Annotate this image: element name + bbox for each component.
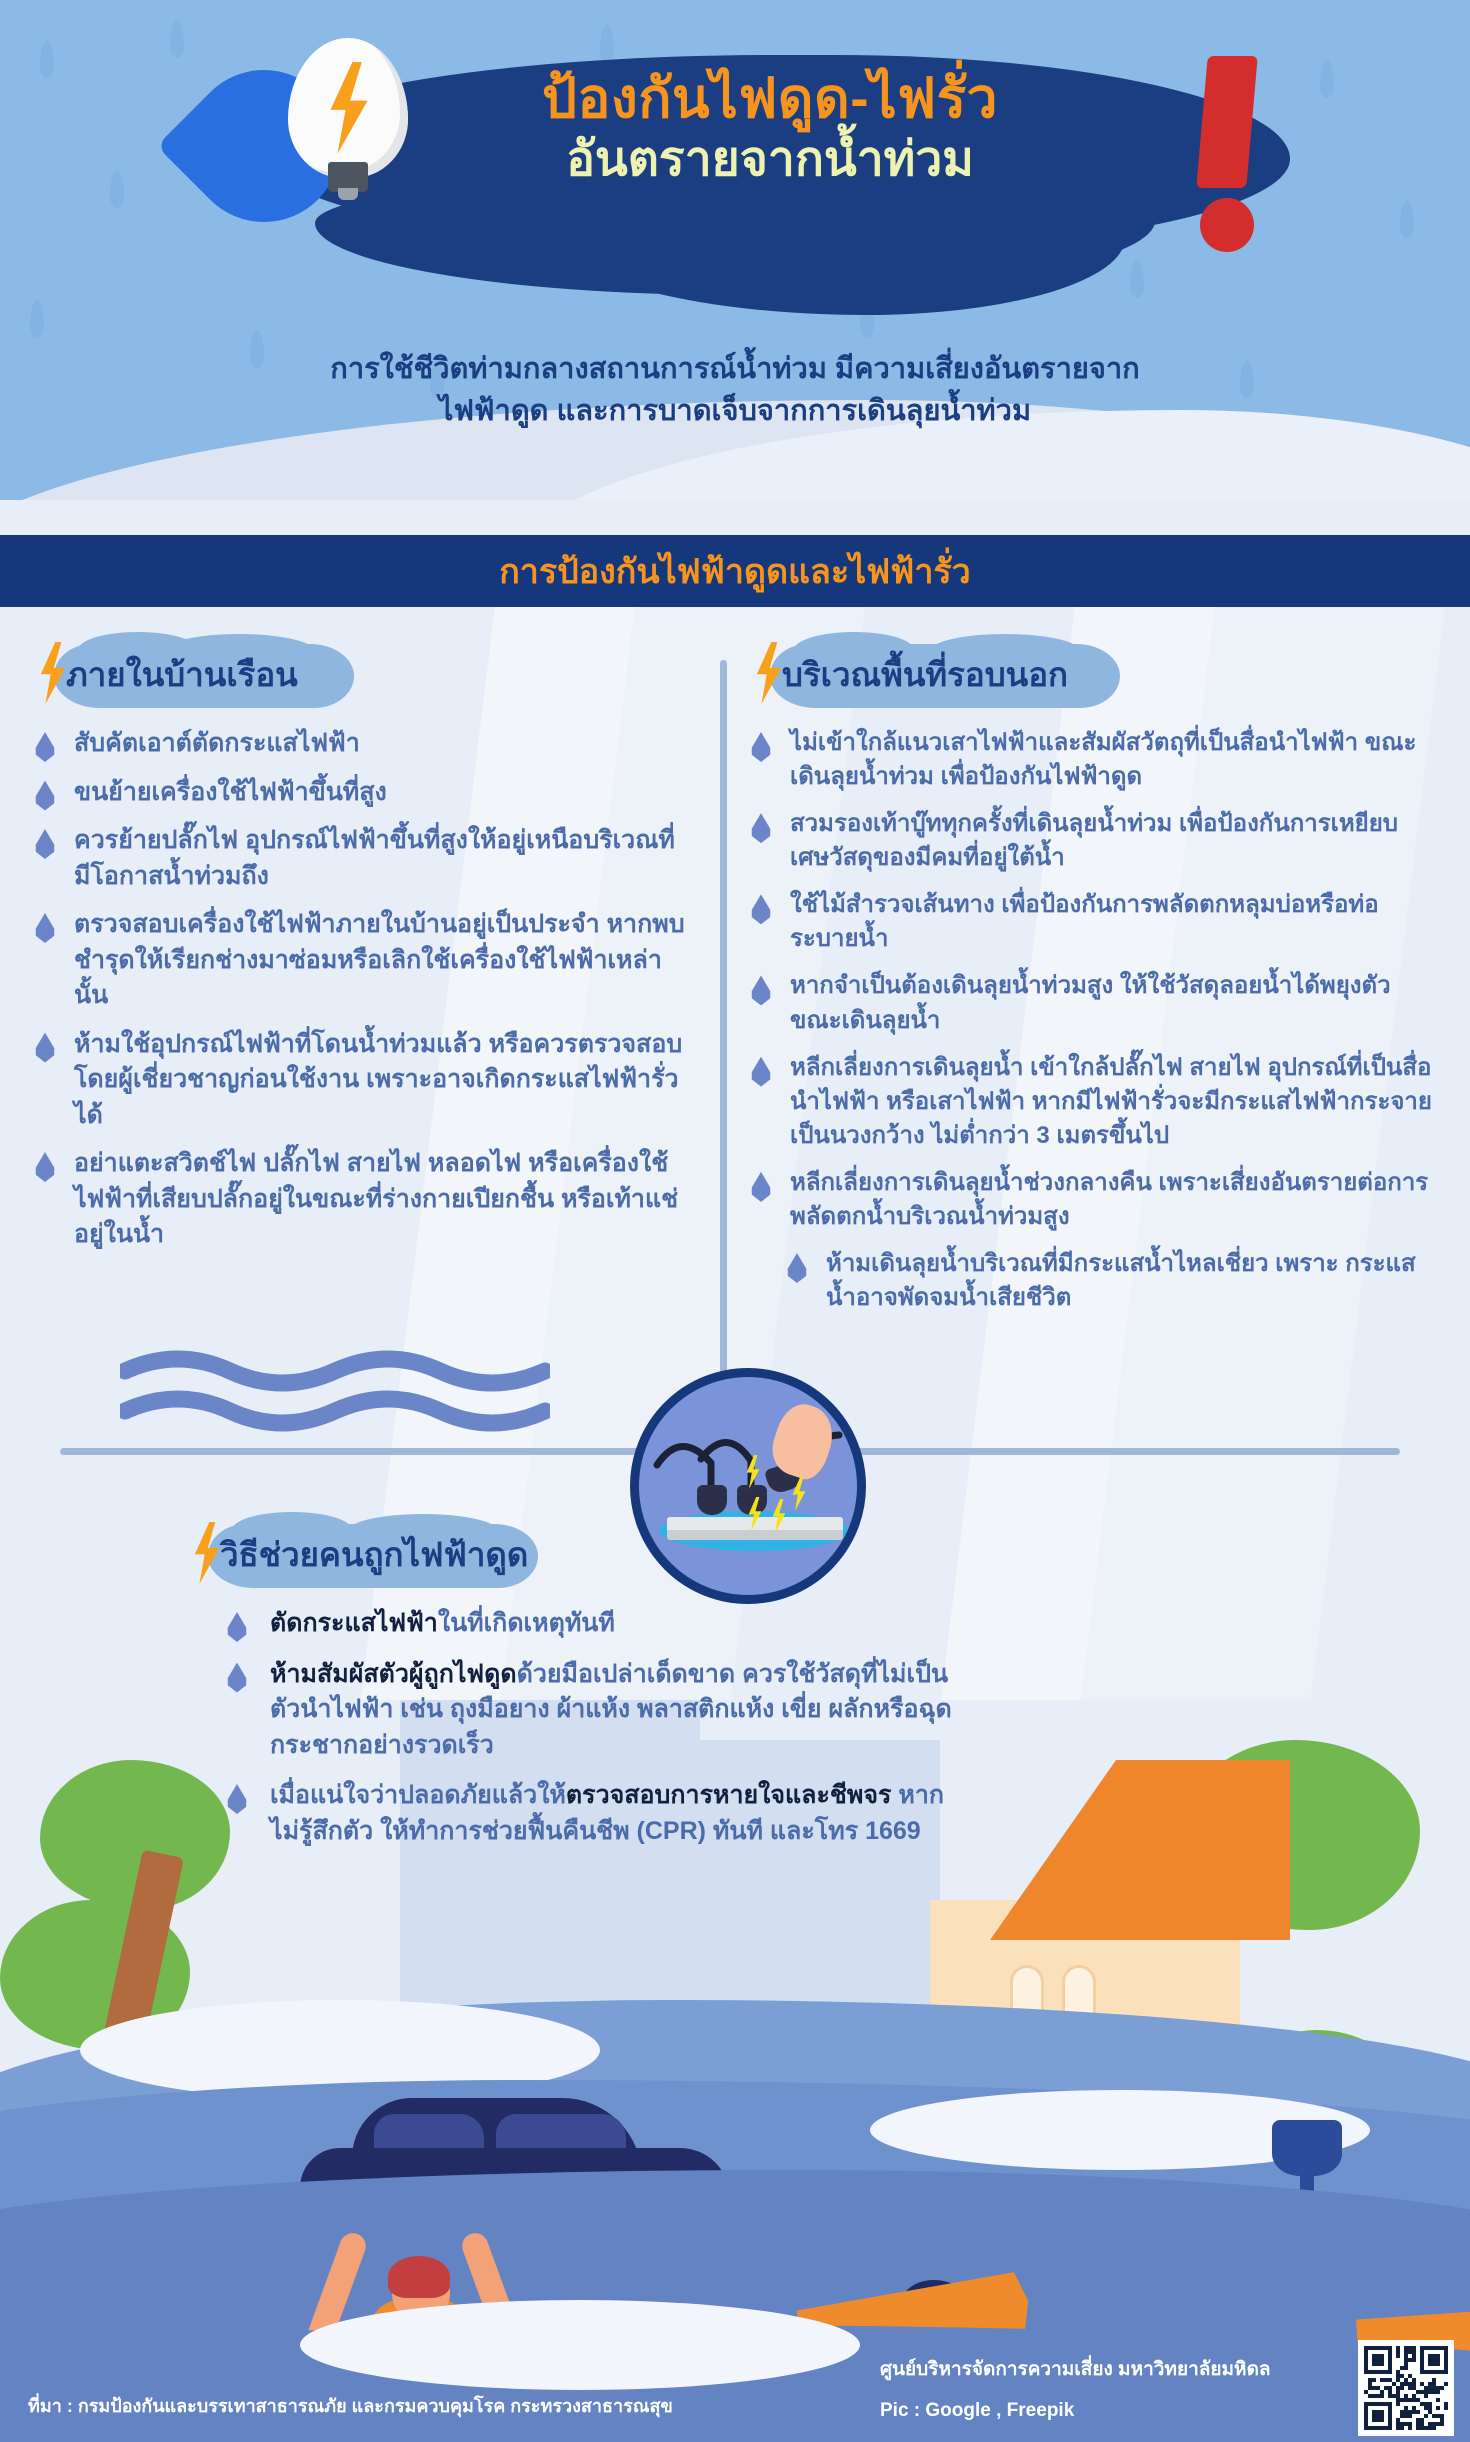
rain-drop — [1320, 60, 1334, 98]
list-item: อย่าแตะสวิตช์ไฟ ปลั๊กไฟ สายไฟ หลอดไฟ หรื… — [26, 1146, 686, 1253]
list-item-text: หากจำเป็นต้องเดินลุยน้ำท่วมสูง ให้ใช้วัส… — [790, 972, 1391, 1033]
rescue-list: ตัดกระแสไฟฟ้าในที่เกิดเหตุทันที ห้ามสัมผ… — [218, 1606, 980, 1849]
list-item-text-emphasis: ตัดกระแสไฟฟ้า — [270, 1609, 438, 1637]
list-item: สวมรองเท้าบู๊ททุกครั้งที่เดินลุยน้ำท่วม … — [742, 807, 1432, 875]
drop-bullet-icon — [750, 1172, 772, 1202]
qr-code[interactable] — [1358, 2340, 1454, 2436]
hero-subtitle: การใช้ชีวิตท่ามกลางสถานการณ์น้ำท่วม มีคว… — [0, 348, 1470, 432]
inside-home-list: สับคัตเอาต์ตัดกระแสไฟฟ้า ขนย้ายเครื่องใช… — [26, 726, 686, 1253]
list-item: ห้ามใช้อุปกรณ์ไฟฟ้าที่โดนน้ำท่วมแล้ว หรื… — [26, 1027, 686, 1134]
drop-bullet-icon — [34, 781, 56, 811]
section-title: วิธีช่วยคนถูกไฟฟ้าดูด — [180, 1520, 558, 1590]
list-item-text: หลีกเลี่ยงการเดินลุยน้ำช่วงกลางคืน เพราะ… — [790, 1169, 1428, 1230]
list-item: ไม่เข้าใกล้แนวเสาไฟฟ้าและสัมผัสวัตถุที่เ… — [742, 726, 1432, 794]
drop-bullet-icon — [786, 1253, 808, 1283]
drop-bullet-icon — [34, 1033, 56, 1063]
person-hair — [388, 2256, 450, 2298]
list-item-text-emphasis: ตรวจสอบการหายใจและชีพจร — [566, 1781, 892, 1809]
list-item-text: ห้ามใช้อุปกรณ์ไฟฟ้าที่โดนน้ำท่วมแล้ว หรื… — [74, 1030, 682, 1129]
list-item-text: ใช้ไม้สำรวจเส้นทาง เพื่อป้องกันการพลัดตก… — [790, 891, 1379, 952]
subtitle-line-1: การใช้ชีวิตท่ามกลางสถานการณ์น้ำท่วม มีคว… — [0, 348, 1470, 390]
section-header-rescue: วิธีช่วยคนถูกไฟฟ้าดูด — [180, 1520, 558, 1592]
footer: ที่มา : กรมป้องกันและบรรเทาสาธารณภัย และ… — [0, 2332, 1470, 2442]
list-item: หลีกเลี่ยงการเดินลุยน้ำ เข้าใกล้ปลั๊กไฟ … — [742, 1051, 1432, 1153]
section-banner-title: การป้องกันไฟฟ้าดูดและไฟฟ้ารั่ว — [499, 544, 971, 598]
street-lamp-head — [1272, 2120, 1342, 2176]
rain-drop — [600, 25, 614, 63]
list-item: สับคัตเอาต์ตัดกระแสไฟฟ้า — [26, 726, 686, 762]
list-item-text: ห้ามเดินลุยน้ำบริเวณที่มีกระแสน้ำไหลเชี่… — [826, 1250, 1416, 1311]
list-item-text: ควรย้ายปลั๊กไฟ อุปกรณ์ไฟฟ้าขึ้นที่สูงให้… — [74, 826, 675, 890]
drop-bullet-icon — [226, 1612, 248, 1642]
drop-bullet-icon — [750, 1057, 772, 1087]
drop-bullet-icon — [750, 813, 772, 843]
rain-drop — [1400, 200, 1414, 238]
section-banner: การป้องกันไฟฟ้าดูดและไฟฟ้ารั่ว — [0, 535, 1470, 607]
list-item: ห้ามเดินลุยน้ำบริเวณที่มีกระแสน้ำไหลเชี่… — [778, 1247, 1432, 1315]
list-item: ตรวจสอบเครื่องใช้ไฟฟ้าภายในบ้านอยู่เป็นป… — [26, 907, 686, 1014]
subtitle-line-2: ไฟฟ้าดูด และการบาดเจ็บจากการเดินลุยน้ำท่… — [0, 390, 1470, 432]
list-item-text: เมื่อแน่ใจว่าปลอดภัยแล้วให้ — [270, 1781, 566, 1809]
footer-credit: Pic : Google , Freepik — [880, 2400, 1074, 2422]
drop-bullet-icon — [34, 829, 56, 859]
rain-drop — [170, 20, 184, 58]
footer-org: ศูนย์บริหารจัดการความเสี่ยง มหาวิทยาลัยม… — [880, 2354, 1271, 2384]
list-item-text: สับคัตเอาต์ตัดกระแสไฟฟ้า — [74, 729, 360, 757]
drop-bullet-icon — [750, 894, 772, 924]
plug-icon — [697, 1485, 727, 1515]
exclamation-dot-icon — [1200, 198, 1254, 252]
section-header-outside-area: บริเวณพื้นที่รอบนอก — [742, 640, 1098, 712]
rain-drop — [110, 170, 124, 208]
section-outside-area: บริเวณพื้นที่รอบนอก ไม่เข้าใกล้แนวเสาไฟฟ… — [742, 640, 1432, 1328]
drop-bullet-icon — [750, 975, 772, 1005]
section-title: ภายในบ้านเรือน — [26, 640, 328, 710]
section-header-inside-home: ภายในบ้านเรือน — [26, 640, 328, 712]
list-item: หลีกเลี่ยงการเดินลุยน้ำช่วงกลางคืน เพราะ… — [742, 1166, 1432, 1234]
drop-bullet-icon — [750, 732, 772, 762]
list-item: ตัดกระแสไฟฟ้าในที่เกิดเหตุทันที — [218, 1606, 980, 1642]
drop-bullet-icon — [226, 1663, 248, 1693]
infographic-poster: ป้องกันไฟดูด-ไฟรั่ว อันตรายจากน้ำท่วม กา… — [0, 0, 1470, 2442]
page-title: ป้องกันไฟดูด-ไฟรั่ว อันตรายจากน้ำท่วม — [400, 66, 1140, 188]
list-item-text: อย่าแตะสวิตช์ไฟ ปลั๊กไฟ สายไฟ หลอดไฟ หรื… — [74, 1149, 678, 1248]
list-item: ขนย้ายเครื่องใช้ไฟฟ้าขึ้นที่สูง — [26, 775, 686, 811]
drop-bullet-icon — [226, 1784, 248, 1814]
list-item-text: ไม่เข้าใกล้แนวเสาไฟฟ้าและสัมผัสวัตถุที่เ… — [790, 729, 1416, 790]
list-item: หากจำเป็นต้องเดินลุยน้ำท่วมสูง ให้ใช้วัส… — [742, 969, 1432, 1037]
title-line-1: ป้องกันไฟดูด-ไฟรั่ว — [400, 66, 1140, 131]
section-title: บริเวณพื้นที่รอบนอก — [742, 640, 1098, 710]
list-item-text: ขนย้ายเครื่องใช้ไฟฟ้าขึ้นที่สูง — [74, 778, 387, 806]
rain-drop — [40, 40, 54, 78]
footer-source: ที่มา : กรมป้องกันและบรรเทาสาธารณภัย และ… — [28, 2391, 673, 2420]
title-line-2: อันตรายจากน้ำท่วม — [400, 131, 1140, 189]
section-inside-home: ภายในบ้านเรือน สับคัตเอาต์ตัดกระแสไฟฟ้า … — [26, 640, 686, 1266]
drop-bullet-icon — [34, 732, 56, 762]
rain-drop — [1130, 260, 1144, 298]
list-item-text-emphasis: ห้ามสัมผัสตัวผู้ถูกไฟดูด — [270, 1660, 517, 1688]
list-item: เมื่อแน่ใจว่าปลอดภัยแล้วให้ตรวจสอบการหาย… — [218, 1778, 980, 1849]
list-item: ห้ามสัมผัสตัวผู้ถูกไฟดูดด้วยมือเปล่าเด็ด… — [218, 1657, 980, 1764]
wave-decoration-icon — [120, 1345, 550, 1435]
outside-area-list: ไม่เข้าใกล้แนวเสาไฟฟ้าและสัมผัสวัตถุที่เ… — [742, 726, 1432, 1315]
drop-bullet-icon — [34, 1152, 56, 1182]
hero-section: ป้องกันไฟดูด-ไฟรั่ว อันตรายจากน้ำท่วม กา… — [0, 0, 1470, 500]
column-divider — [720, 660, 727, 1450]
list-item-text: ในที่เกิดเหตุทันที — [438, 1609, 615, 1637]
drop-bullet-icon — [34, 913, 56, 943]
lightbulb-icon — [288, 38, 408, 198]
section-rescue: วิธีช่วยคนถูกไฟฟ้าดูด ตัดกระแสไฟฟ้าในที่… — [180, 1520, 980, 1864]
list-item-text: ตรวจสอบเครื่องใช้ไฟฟ้าภายในบ้านอยู่เป็นป… — [74, 910, 685, 1009]
list-item-text: หลีกเลี่ยงการเดินลุยน้ำ เข้าใกล้ปลั๊กไฟ … — [790, 1054, 1432, 1149]
list-item: ใช้ไม้สำรวจเส้นทาง เพื่อป้องกันการพลัดตก… — [742, 888, 1432, 956]
list-item: ควรย้ายปลั๊กไฟ อุปกรณ์ไฟฟ้าขึ้นที่สูงให้… — [26, 823, 686, 894]
list-item-text: สวมรองเท้าบู๊ททุกครั้งที่เดินลุยน้ำท่วม … — [790, 810, 1398, 871]
rain-drop — [30, 300, 44, 338]
